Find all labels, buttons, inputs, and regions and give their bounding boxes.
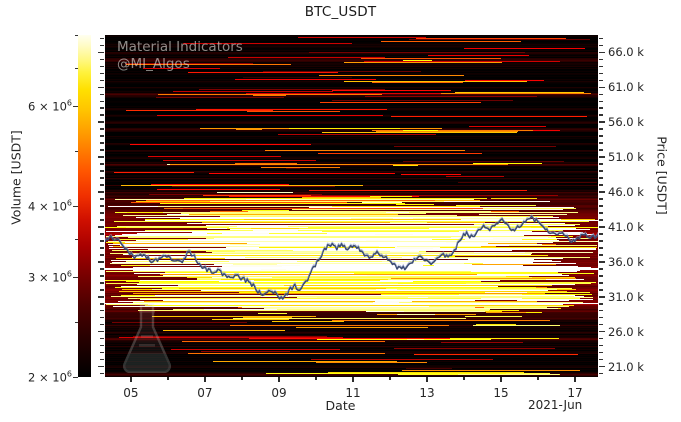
y-axis-tick-label: 26.0 k bbox=[608, 325, 644, 339]
y-axis-minor-tick bbox=[100, 233, 104, 235]
colorbar-tick bbox=[73, 206, 78, 207]
y-axis-minor-tick bbox=[100, 142, 104, 144]
colorbar-axis-label: Volume [USDT] bbox=[9, 108, 24, 248]
heatmap-plot-area[interactable]: Material Indicators @MI_Algos bbox=[105, 35, 598, 377]
page-title: BTC_USDT bbox=[0, 4, 681, 20]
colorbar-tick-label: 2 × 106 bbox=[28, 370, 72, 385]
y-axis-tick bbox=[98, 87, 104, 89]
colorbar-tick-label: 4 × 106 bbox=[28, 199, 72, 214]
y-axis-tick bbox=[98, 226, 104, 228]
y-axis-minor-tick bbox=[100, 303, 104, 305]
y-axis-minor-tick bbox=[100, 282, 104, 284]
y-axis-minor-tick bbox=[100, 289, 104, 291]
y-axis-minor-tick bbox=[599, 45, 603, 47]
y-axis-tick bbox=[98, 191, 104, 193]
y-axis-minor-tick bbox=[599, 177, 603, 179]
y-axis-minor-tick bbox=[599, 149, 603, 151]
y-axis-minor-tick bbox=[599, 219, 603, 221]
y-axis-minor-tick bbox=[599, 345, 603, 347]
y-axis-minor-tick bbox=[100, 107, 104, 109]
x-axis-tick bbox=[130, 377, 131, 382]
y-axis-minor-tick bbox=[599, 128, 603, 130]
y-axis-minor-tick bbox=[100, 170, 104, 172]
y-axis-minor-tick bbox=[599, 66, 603, 68]
colorbar-gradient bbox=[78, 35, 91, 377]
y-axis-minor-tick bbox=[599, 289, 603, 291]
y-axis-tick bbox=[98, 296, 104, 298]
y-axis-tick bbox=[599, 121, 605, 123]
y-axis-minor-tick bbox=[599, 198, 603, 200]
y-axis-minor-tick bbox=[599, 338, 603, 340]
y-axis-minor-tick bbox=[599, 114, 603, 116]
colorbar-minor-tick bbox=[75, 239, 78, 240]
y-axis-tick bbox=[98, 156, 104, 158]
y-axis-minor-tick bbox=[100, 254, 104, 256]
y-axis-minor-tick bbox=[599, 310, 603, 312]
y-axis-tick bbox=[599, 191, 605, 193]
y-axis-minor-tick bbox=[100, 80, 104, 82]
y-axis-minor-tick bbox=[100, 345, 104, 347]
y-axis-minor-tick bbox=[100, 149, 104, 151]
y-axis-minor-tick bbox=[100, 163, 104, 165]
y-axis-minor-tick bbox=[100, 73, 104, 75]
y-axis-minor-tick bbox=[100, 310, 104, 312]
y-axis-tick-label: 51.0 k bbox=[608, 150, 644, 164]
y-axis-minor-tick bbox=[599, 254, 603, 256]
colorbar-tick bbox=[73, 106, 78, 107]
x-axis-minor-tick bbox=[315, 377, 316, 380]
x-axis-minor-tick bbox=[241, 377, 242, 380]
y-axis-tick bbox=[599, 261, 605, 263]
y-axis-minor-tick bbox=[100, 45, 104, 47]
y-axis-minor-tick bbox=[599, 247, 603, 249]
colorbar-tick-label: 3 × 106 bbox=[28, 270, 72, 285]
x-axis-minor-tick bbox=[389, 377, 390, 380]
x-axis-tick bbox=[574, 377, 575, 382]
y-axis-minor-tick bbox=[100, 59, 104, 61]
y-axis-minor-tick bbox=[100, 275, 104, 277]
y-axis-tick-label: 41.0 k bbox=[608, 220, 644, 234]
colorbar-minor-tick bbox=[75, 68, 78, 69]
y-axis-minor-tick bbox=[599, 142, 603, 144]
colorbar-tick bbox=[73, 277, 78, 278]
x-axis-offset-text: 2021-Jun bbox=[528, 398, 582, 412]
y-axis-minor-tick bbox=[599, 107, 603, 109]
y-axis-minor-tick bbox=[599, 38, 603, 40]
y-axis-minor-tick bbox=[599, 240, 603, 242]
y-axis-tick bbox=[98, 261, 104, 263]
y-axis-minor-tick bbox=[599, 268, 603, 270]
x-axis-tick bbox=[352, 377, 353, 382]
y-axis-minor-tick bbox=[599, 282, 603, 284]
y-axis-minor-tick bbox=[599, 80, 603, 82]
y-axis-right-label: Price [USDT] bbox=[655, 106, 670, 246]
y-axis-minor-tick bbox=[599, 170, 603, 172]
y-axis-minor-tick bbox=[100, 247, 104, 249]
y-axis-minor-tick bbox=[100, 359, 104, 361]
y-axis-minor-tick bbox=[599, 275, 603, 277]
y-axis-minor-tick bbox=[599, 163, 603, 165]
y-axis-minor-tick bbox=[100, 240, 104, 242]
y-axis-minor-tick bbox=[100, 66, 104, 68]
x-axis-minor-tick bbox=[463, 377, 464, 380]
y-axis-tick bbox=[599, 366, 605, 368]
colorbar-minor-tick bbox=[75, 151, 78, 152]
y-axis-minor-tick bbox=[100, 352, 104, 354]
y-axis-minor-tick bbox=[100, 128, 104, 130]
y-axis-minor-tick bbox=[599, 101, 603, 103]
y-axis-minor-tick bbox=[100, 205, 104, 207]
y-axis-minor-tick bbox=[599, 373, 603, 375]
x-axis-tick bbox=[426, 377, 427, 382]
y-axis-tick-label: 31.0 k bbox=[608, 290, 644, 304]
y-axis-minor-tick bbox=[100, 101, 104, 103]
y-axis-minor-tick bbox=[100, 212, 104, 214]
y-axis-tick bbox=[98, 366, 104, 368]
colorbar-minor-tick bbox=[75, 322, 78, 323]
y-axis-tick bbox=[98, 331, 104, 333]
y-axis-minor-tick bbox=[100, 268, 104, 270]
y-axis-minor-tick bbox=[599, 324, 603, 326]
y-axis-minor-tick bbox=[599, 135, 603, 137]
y-axis-minor-tick bbox=[100, 177, 104, 179]
y-axis-minor-tick bbox=[599, 59, 603, 61]
y-axis-tick-label: 46.0 k bbox=[608, 185, 644, 199]
y-axis-minor-tick bbox=[599, 205, 603, 207]
y-axis-minor-tick bbox=[599, 73, 603, 75]
y-axis-minor-tick bbox=[599, 233, 603, 235]
y-axis-minor-tick bbox=[100, 94, 104, 96]
x-axis-tick bbox=[204, 377, 205, 382]
y-axis-minor-tick bbox=[100, 184, 104, 186]
y-axis-tick bbox=[599, 52, 605, 54]
y-axis-minor-tick bbox=[100, 338, 104, 340]
y-axis-tick-label: 36.0 k bbox=[608, 255, 644, 269]
colorbar bbox=[78, 35, 91, 377]
x-axis-tick bbox=[278, 377, 279, 382]
y-axis-tick-label: 66.0 k bbox=[608, 45, 644, 59]
y-axis-minor-tick bbox=[100, 317, 104, 319]
y-axis-tick-label: 56.0 k bbox=[608, 115, 644, 129]
y-axis-minor-tick bbox=[100, 135, 104, 137]
y-axis-minor-tick bbox=[100, 324, 104, 326]
y-axis-tick-label: 61.0 k bbox=[608, 80, 644, 94]
y-axis-tick-label: 21.0 k bbox=[608, 360, 644, 374]
y-axis-tick bbox=[98, 52, 104, 54]
colorbar-minor-tick bbox=[75, 35, 78, 36]
y-axis-tick bbox=[98, 121, 104, 123]
y-axis-minor-tick bbox=[599, 212, 603, 214]
y-axis-minor-tick bbox=[100, 198, 104, 200]
x-axis-minor-tick bbox=[537, 377, 538, 380]
y-axis-minor-tick bbox=[100, 373, 104, 375]
y-axis-minor-tick bbox=[599, 359, 603, 361]
colorbar-tick bbox=[73, 377, 78, 378]
y-axis-minor-tick bbox=[100, 38, 104, 40]
y-axis-minor-tick bbox=[599, 303, 603, 305]
y-axis-tick bbox=[599, 226, 605, 228]
colorbar-tick-label: 6 × 106 bbox=[28, 99, 72, 114]
x-axis-tick bbox=[500, 377, 501, 382]
y-axis-tick bbox=[599, 156, 605, 158]
y-axis-minor-tick bbox=[599, 352, 603, 354]
y-axis-tick bbox=[599, 87, 605, 89]
y-axis-tick bbox=[599, 331, 605, 333]
y-axis-minor-tick bbox=[599, 317, 603, 319]
y-axis-minor-tick bbox=[599, 184, 603, 186]
y-axis-minor-tick bbox=[100, 219, 104, 221]
x-axis-minor-tick bbox=[167, 377, 168, 380]
y-axis-tick bbox=[599, 296, 605, 298]
y-axis-minor-tick bbox=[599, 94, 603, 96]
y-axis-minor-tick bbox=[100, 114, 104, 116]
